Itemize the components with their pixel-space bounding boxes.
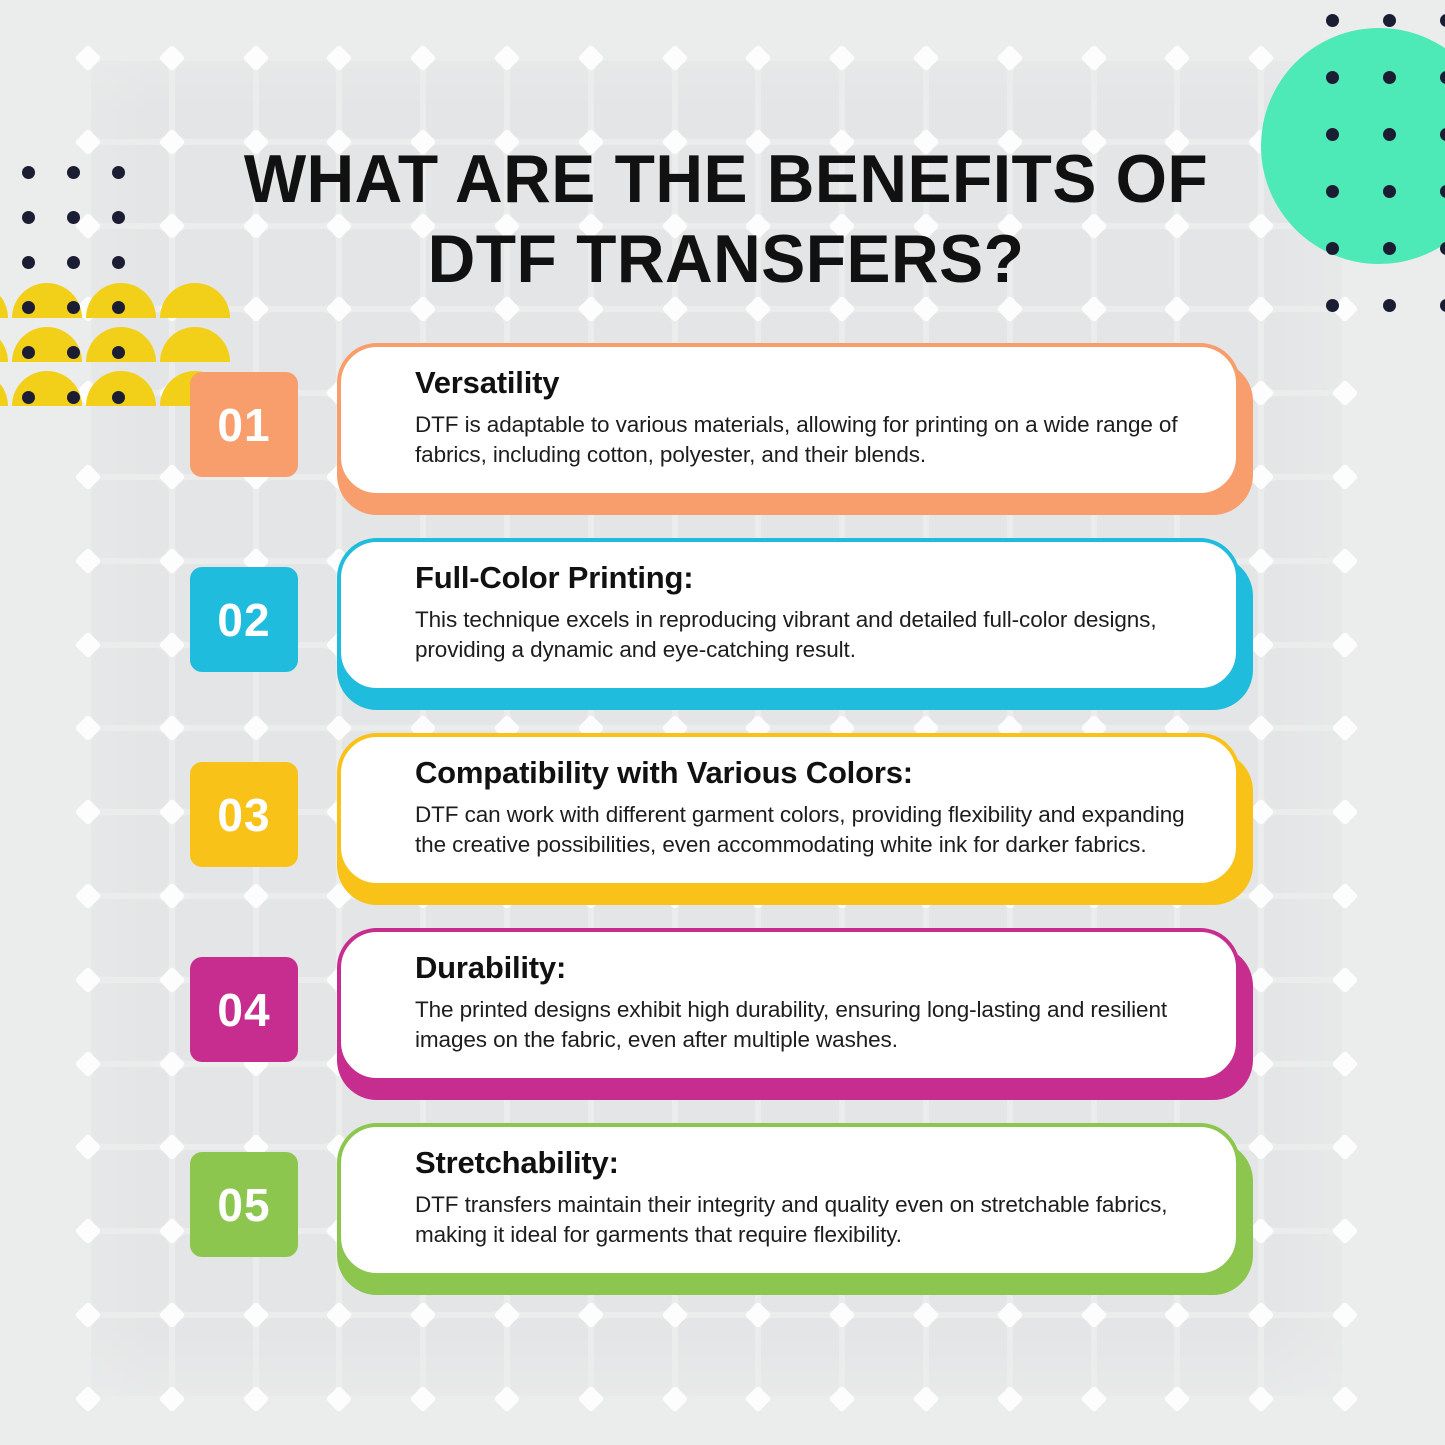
dot-shape [67, 256, 80, 269]
benefit-heading: Versatility [415, 365, 1206, 401]
dot-shape [22, 166, 35, 179]
grid-cell [758, 1315, 842, 1399]
card-surface: Full-Color Printing:This technique excel… [337, 538, 1240, 692]
dot-shape [22, 301, 35, 314]
dot-shape [67, 166, 80, 179]
benefit-description: DTF transfers maintain their integrity a… [415, 1190, 1206, 1250]
grid-cell [339, 1315, 423, 1399]
benefit-description: This technique excels in reproducing vib… [415, 605, 1206, 665]
grid-cell [1261, 1315, 1345, 1399]
grid-cell [339, 58, 423, 142]
benefit-number-badge: 04 [190, 957, 298, 1062]
dot-shape [1440, 71, 1445, 84]
dot-shape [67, 301, 80, 314]
grid-cell [842, 1315, 926, 1399]
dot-shape [67, 211, 80, 224]
dot-shape [1383, 242, 1396, 255]
grid-cell [423, 58, 507, 142]
benefit-card: Compatibility with Various Colors:DTF ca… [337, 733, 1253, 905]
dot-shape [112, 301, 125, 314]
page-title: WHAT ARE THE BENEFITS OF DTF TRANSFERS? [202, 140, 1250, 299]
grid-cell [926, 1315, 1010, 1399]
grid-cell [88, 58, 172, 142]
dot-grid-right-decoration [1326, 14, 1445, 312]
benefit-item: 04Durability:The printed designs exhibit… [0, 928, 1445, 1123]
grid-cell [926, 58, 1010, 142]
grid-cell [1094, 1315, 1178, 1399]
benefit-card: Durability:The printed designs exhibit h… [337, 928, 1253, 1100]
grid-cell [507, 58, 591, 142]
dot-shape [22, 211, 35, 224]
grid-cell [172, 1315, 256, 1399]
infographic-poster: WHAT ARE THE BENEFITS OF DTF TRANSFERS? … [0, 0, 1445, 1445]
benefit-heading: Compatibility with Various Colors: [415, 755, 1206, 791]
dot-shape [1383, 128, 1396, 141]
dot-shape [1440, 14, 1445, 27]
dot-shape [1326, 71, 1339, 84]
dot-shape [1326, 128, 1339, 141]
grid-cell [1177, 58, 1261, 142]
grid-cell [1094, 58, 1178, 142]
dot-shape [1383, 71, 1396, 84]
benefit-number-badge: 02 [190, 567, 298, 672]
benefit-item: 03Compatibility with Various Colors:DTF … [0, 733, 1445, 928]
grid-cell [591, 58, 675, 142]
dot-shape [1326, 242, 1339, 255]
dot-shape [112, 211, 125, 224]
benefit-heading: Durability: [415, 950, 1206, 986]
grid-cell [1177, 1315, 1261, 1399]
benefit-item: 01VersatilityDTF is adaptable to various… [0, 343, 1445, 538]
card-surface: VersatilityDTF is adaptable to various m… [337, 343, 1240, 497]
benefit-heading: Stretchability: [415, 1145, 1206, 1181]
dot-shape [1326, 14, 1339, 27]
grid-cell [842, 58, 926, 142]
dot-shape [1326, 185, 1339, 198]
grid-cell [172, 58, 256, 142]
dot-shape [22, 256, 35, 269]
benefit-item: 02Full-Color Printing:This technique exc… [0, 538, 1445, 733]
dot-shape [1383, 185, 1396, 198]
benefit-card: VersatilityDTF is adaptable to various m… [337, 343, 1253, 515]
benefit-card: Full-Color Printing:This technique excel… [337, 538, 1253, 710]
grid-cell [1010, 1315, 1094, 1399]
benefit-number-badge: 03 [190, 762, 298, 867]
dot-shape [1440, 128, 1445, 141]
dot-shape [112, 256, 125, 269]
grid-cell [758, 58, 842, 142]
dot-shape [1326, 299, 1339, 312]
benefit-description: DTF is adaptable to various materials, a… [415, 410, 1206, 470]
dot-shape [1440, 299, 1445, 312]
grid-cell [256, 58, 340, 142]
grid-cell [88, 1315, 172, 1399]
card-surface: Stretchability:DTF transfers maintain th… [337, 1123, 1240, 1277]
card-surface: Durability:The printed designs exhibit h… [337, 928, 1240, 1082]
dot-shape [1440, 242, 1445, 255]
grid-cell [1010, 58, 1094, 142]
benefit-number-badge: 05 [190, 1152, 298, 1257]
grid-cell [675, 1315, 759, 1399]
benefits-list: 01VersatilityDTF is adaptable to various… [0, 343, 1445, 1318]
benefit-heading: Full-Color Printing: [415, 560, 1206, 596]
grid-cell [256, 1315, 340, 1399]
dot-shape [1383, 299, 1396, 312]
dot-shape [112, 166, 125, 179]
benefit-description: The printed designs exhibit high durabil… [415, 995, 1206, 1055]
benefit-item: 05Stretchability:DTF transfers maintain … [0, 1123, 1445, 1318]
benefit-card: Stretchability:DTF transfers maintain th… [337, 1123, 1253, 1295]
grid-cell [423, 1315, 507, 1399]
benefit-number-badge: 01 [190, 372, 298, 477]
grid-cell [591, 1315, 675, 1399]
dome-shape [0, 283, 8, 318]
grid-cell [675, 58, 759, 142]
benefit-description: DTF can work with different garment colo… [415, 800, 1206, 860]
card-surface: Compatibility with Various Colors:DTF ca… [337, 733, 1240, 887]
dot-shape [1383, 14, 1396, 27]
dot-shape [1440, 185, 1445, 198]
grid-cell [507, 1315, 591, 1399]
